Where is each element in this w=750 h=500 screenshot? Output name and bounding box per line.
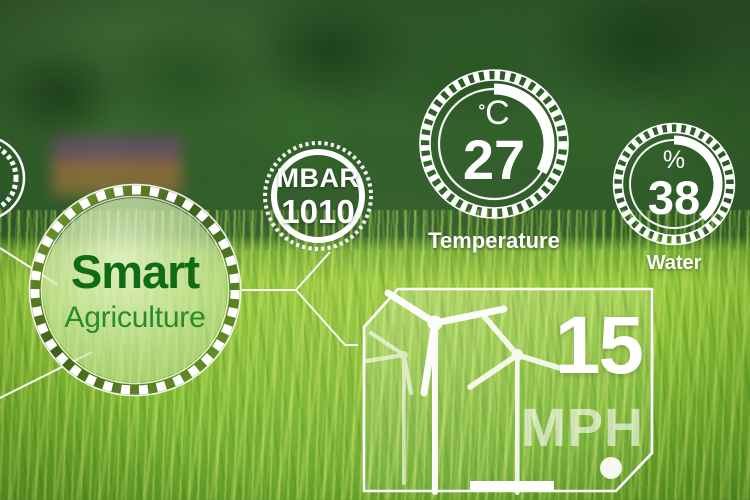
brand-line-1: Smart (71, 248, 199, 295)
brand-line-2: Agriculture (64, 303, 205, 333)
smart-agriculture-hud-scene: Smart Agriculture MBAR 1010 ° (0, 0, 750, 500)
temperature-unit-letter: C (485, 100, 510, 127)
wind-speed-unit: MPH (521, 401, 644, 455)
wind-status-dot-icon (600, 457, 622, 479)
temperature-unit: ° C (478, 100, 509, 127)
temperature-readout: ° C 27 (414, 64, 574, 224)
badge-label-group: Smart Agriculture (28, 183, 242, 397)
wind-panel[interactable]: 15 MPH (358, 283, 658, 498)
pressure-readout: MBAR 1010 (262, 140, 374, 252)
gauge-pressure[interactable]: MBAR 1010 (262, 140, 374, 252)
gauge-temperature[interactable]: ° C 27 Temperature (414, 64, 574, 224)
hud-edge-circle (0, 136, 24, 220)
temperature-value: 27 (463, 132, 525, 188)
wind-panel-bottom-tab (470, 481, 554, 490)
temperature-caption: Temperature (428, 228, 560, 254)
smart-agriculture-badge[interactable]: Smart Agriculture (28, 183, 242, 397)
water-caption: Water (647, 252, 702, 275)
water-unit: % (663, 148, 685, 173)
wind-speed-value: 15 (555, 305, 642, 387)
water-readout: % 38 (608, 118, 740, 250)
pressure-unit: MBAR (277, 165, 360, 192)
degree-symbol-icon: ° (478, 102, 485, 119)
gauge-water[interactable]: % 38 Water (608, 118, 740, 250)
pressure-value: 1010 (281, 195, 354, 228)
water-value: 38 (648, 174, 700, 221)
